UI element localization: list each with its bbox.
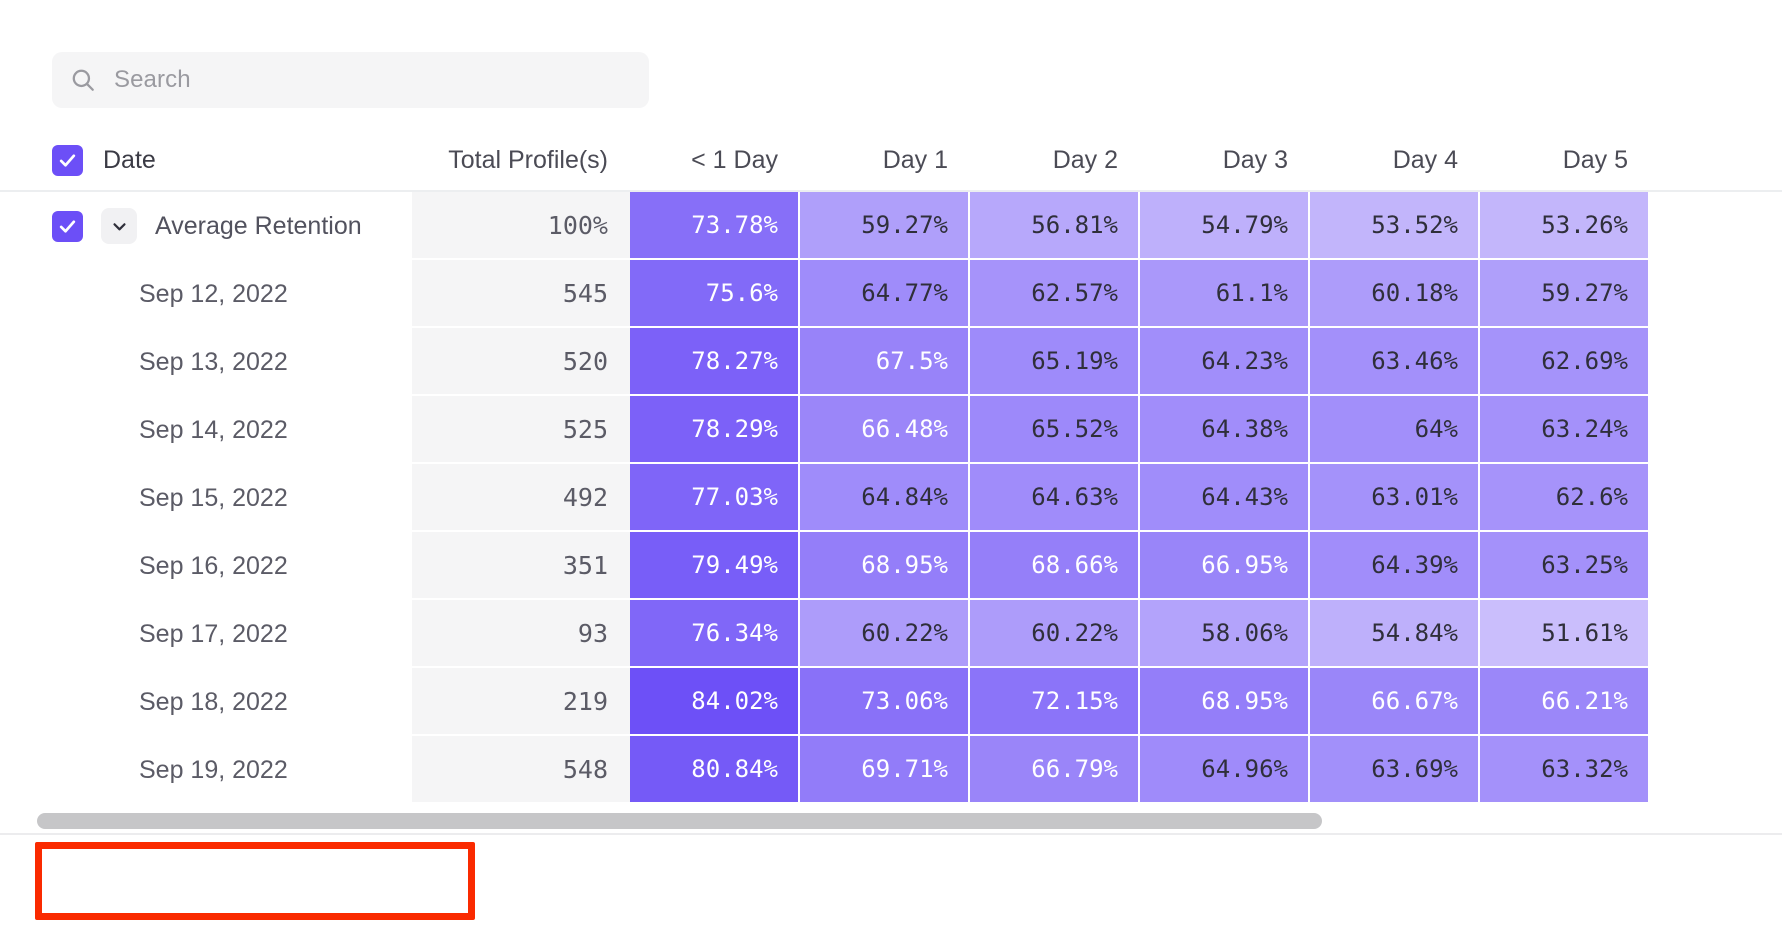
retention-cell[interactable]: 56.81% (970, 192, 1140, 260)
retention-cell[interactable]: 60.22% (800, 600, 970, 668)
retention-cell[interactable]: 63.46% (1310, 328, 1480, 396)
row-name: Sep 12, 2022 (139, 280, 288, 309)
column-header-day-4[interactable]: Day 4 (1310, 146, 1480, 175)
row-label-cell: Sep 13, 2022 (0, 328, 412, 396)
retention-cell[interactable]: 64.38% (1140, 396, 1310, 464)
total-profiles-cell: 219 (412, 668, 630, 736)
retention-cell[interactable]: 63.01% (1310, 464, 1480, 532)
retention-cell[interactable]: 63.32% (1480, 736, 1650, 804)
retention-cell[interactable]: 66.95% (1140, 532, 1310, 600)
row-label-cell: Sep 18, 2022 (0, 668, 412, 736)
horizontal-scrollbar[interactable] (0, 810, 1782, 832)
retention-cell[interactable]: 64% (1310, 396, 1480, 464)
retention-cell[interactable]: 63.69% (1310, 736, 1480, 804)
retention-cell[interactable]: 65.19% (970, 328, 1140, 396)
column-header-date[interactable]: Date (103, 146, 156, 175)
total-profiles-cell: 520 (412, 328, 630, 396)
retention-cell[interactable]: 64.84% (800, 464, 970, 532)
row-name: Sep 14, 2022 (139, 416, 288, 445)
column-header-day-1[interactable]: Day 1 (800, 146, 970, 175)
table-row[interactable]: Sep 19, 202254880.84%69.71%66.79%64.96%6… (0, 736, 1782, 804)
search-container: Search (52, 52, 649, 108)
retention-cell[interactable]: 76.34% (630, 600, 800, 668)
retention-cell[interactable]: 78.29% (630, 396, 800, 464)
retention-cell[interactable]: 68.66% (970, 532, 1140, 600)
total-profiles-cell: 100% (412, 192, 630, 260)
retention-cell[interactable]: 51.61% (1480, 600, 1650, 668)
retention-cell[interactable]: 73.78% (630, 192, 800, 260)
retention-cell[interactable]: 68.95% (1140, 668, 1310, 736)
column-header-total-profiles[interactable]: Total Profile(s) (412, 146, 630, 175)
retention-cell[interactable]: 64.96% (1140, 736, 1310, 804)
retention-cell[interactable]: 80.84% (630, 736, 800, 804)
column-header-lt-1-day[interactable]: < 1 Day (630, 146, 800, 175)
table-row[interactable]: Sep 15, 202249277.03%64.84%64.63%64.43%6… (0, 464, 1782, 532)
column-header-day-2[interactable]: Day 2 (970, 146, 1140, 175)
select-all-checkbox[interactable] (52, 145, 83, 176)
row-name: Sep 16, 2022 (139, 552, 288, 581)
scrollbar-thumb[interactable] (37, 813, 1322, 829)
table-row[interactable]: Sep 16, 202235179.49%68.95%68.66%66.95%6… (0, 532, 1782, 600)
retention-cell[interactable]: 61.1% (1140, 260, 1310, 328)
footer-bar: Find Interesting Segments Receive an ema… (0, 840, 1782, 930)
retention-cell[interactable]: 66.67% (1310, 668, 1480, 736)
table-row[interactable]: Sep 17, 20229376.34%60.22%60.22%58.06%54… (0, 600, 1782, 668)
total-profiles-cell: 492 (412, 464, 630, 532)
retention-cell[interactable]: 78.27% (630, 328, 800, 396)
retention-cell[interactable]: 72.15% (970, 668, 1140, 736)
row-label-cell: Sep 17, 2022 (0, 600, 412, 668)
row-label-cell: Sep 19, 2022 (0, 736, 412, 804)
row-name: Sep 15, 2022 (139, 484, 288, 513)
row-label-cell: Sep 14, 2022 (0, 396, 412, 464)
table-row[interactable]: Sep 14, 202252578.29%66.48%65.52%64.38%6… (0, 396, 1782, 464)
retention-cell[interactable]: 54.79% (1140, 192, 1310, 260)
retention-cell[interactable]: 79.49% (630, 532, 800, 600)
row-label-cell: Sep 15, 2022 (0, 464, 412, 532)
retention-cell[interactable]: 75.6% (630, 260, 800, 328)
total-profiles-cell: 93 (412, 600, 630, 668)
retention-cell[interactable]: 64.23% (1140, 328, 1310, 396)
retention-cell[interactable]: 59.27% (1480, 260, 1650, 328)
table-row[interactable]: Sep 13, 202252078.27%67.5%65.19%64.23%63… (0, 328, 1782, 396)
retention-cell[interactable]: 68.95% (800, 532, 970, 600)
total-profiles-cell: 545 (412, 260, 630, 328)
row-name: Sep 13, 2022 (139, 348, 288, 377)
retention-cell[interactable]: 67.5% (800, 328, 970, 396)
retention-cell[interactable]: 64.63% (970, 464, 1140, 532)
table-row[interactable]: Sep 12, 202254575.6%64.77%62.57%61.1%60.… (0, 260, 1782, 328)
retention-cell[interactable]: 73.06% (800, 668, 970, 736)
retention-cell[interactable]: 66.21% (1480, 668, 1650, 736)
retention-cell[interactable]: 54.84% (1310, 600, 1480, 668)
total-profiles-cell: 548 (412, 736, 630, 804)
row-name: Sep 19, 2022 (139, 756, 288, 785)
retention-cell[interactable]: 64.39% (1310, 532, 1480, 600)
retention-cell[interactable]: 69.71% (800, 736, 970, 804)
retention-cell[interactable]: 77.03% (630, 464, 800, 532)
retention-table-panel: Search Date Total Profile(s) < 1 Day Day… (0, 0, 1782, 930)
row-label-cell: Sep 12, 2022 (0, 260, 412, 328)
total-profiles-cell: 351 (412, 532, 630, 600)
row-name: Sep 18, 2022 (139, 688, 288, 717)
column-header-day-3[interactable]: Day 3 (1140, 146, 1310, 175)
retention-cell[interactable]: 66.48% (800, 396, 970, 464)
retention-cell[interactable]: 65.52% (970, 396, 1140, 464)
retention-cell[interactable]: 63.25% (1480, 532, 1650, 600)
retention-cell[interactable]: 53.52% (1310, 192, 1480, 260)
table-row[interactable]: Average Retention100%73.78%59.27%56.81%5… (0, 192, 1782, 260)
retention-cell[interactable]: 59.27% (800, 192, 970, 260)
retention-cell[interactable]: 62.69% (1480, 328, 1650, 396)
table-body: Average Retention100%73.78%59.27%56.81%5… (0, 192, 1782, 804)
retention-cell[interactable]: 64.77% (800, 260, 970, 328)
total-profiles-cell: 525 (412, 396, 630, 464)
row-checkbox[interactable] (52, 211, 83, 242)
retention-cell[interactable]: 62.6% (1480, 464, 1650, 532)
retention-cell[interactable]: 62.57% (970, 260, 1140, 328)
retention-cell[interactable]: 60.22% (970, 600, 1140, 668)
column-header-day-5[interactable]: Day 5 (1480, 146, 1650, 175)
retention-cell[interactable]: 63.24% (1480, 396, 1650, 464)
row-name: Sep 17, 2022 (139, 620, 288, 649)
chevron-down-icon[interactable] (101, 208, 137, 244)
search-input[interactable]: Search (52, 52, 649, 108)
retention-cell[interactable]: 60.18% (1310, 260, 1480, 328)
row-name: Average Retention (155, 212, 362, 241)
retention-cell[interactable]: 66.79% (970, 736, 1140, 804)
footer-divider (0, 833, 1782, 835)
table-header-row: Date Total Profile(s) < 1 Day Day 1 Day … (0, 130, 1782, 192)
table-row[interactable]: Sep 18, 202221984.02%73.06%72.15%68.95%6… (0, 668, 1782, 736)
row-label-cell: Sep 16, 2022 (0, 532, 412, 600)
header-left-pane: Date (0, 145, 412, 176)
retention-table: Date Total Profile(s) < 1 Day Day 1 Day … (0, 130, 1782, 820)
retention-cell[interactable]: 53.26% (1480, 192, 1650, 260)
row-label-cell: Average Retention (0, 192, 412, 260)
search-icon (70, 67, 96, 93)
retention-cell[interactable]: 58.06% (1140, 600, 1310, 668)
search-placeholder: Search (114, 66, 191, 94)
retention-cell[interactable]: 84.02% (630, 668, 800, 736)
retention-cell[interactable]: 64.43% (1140, 464, 1310, 532)
